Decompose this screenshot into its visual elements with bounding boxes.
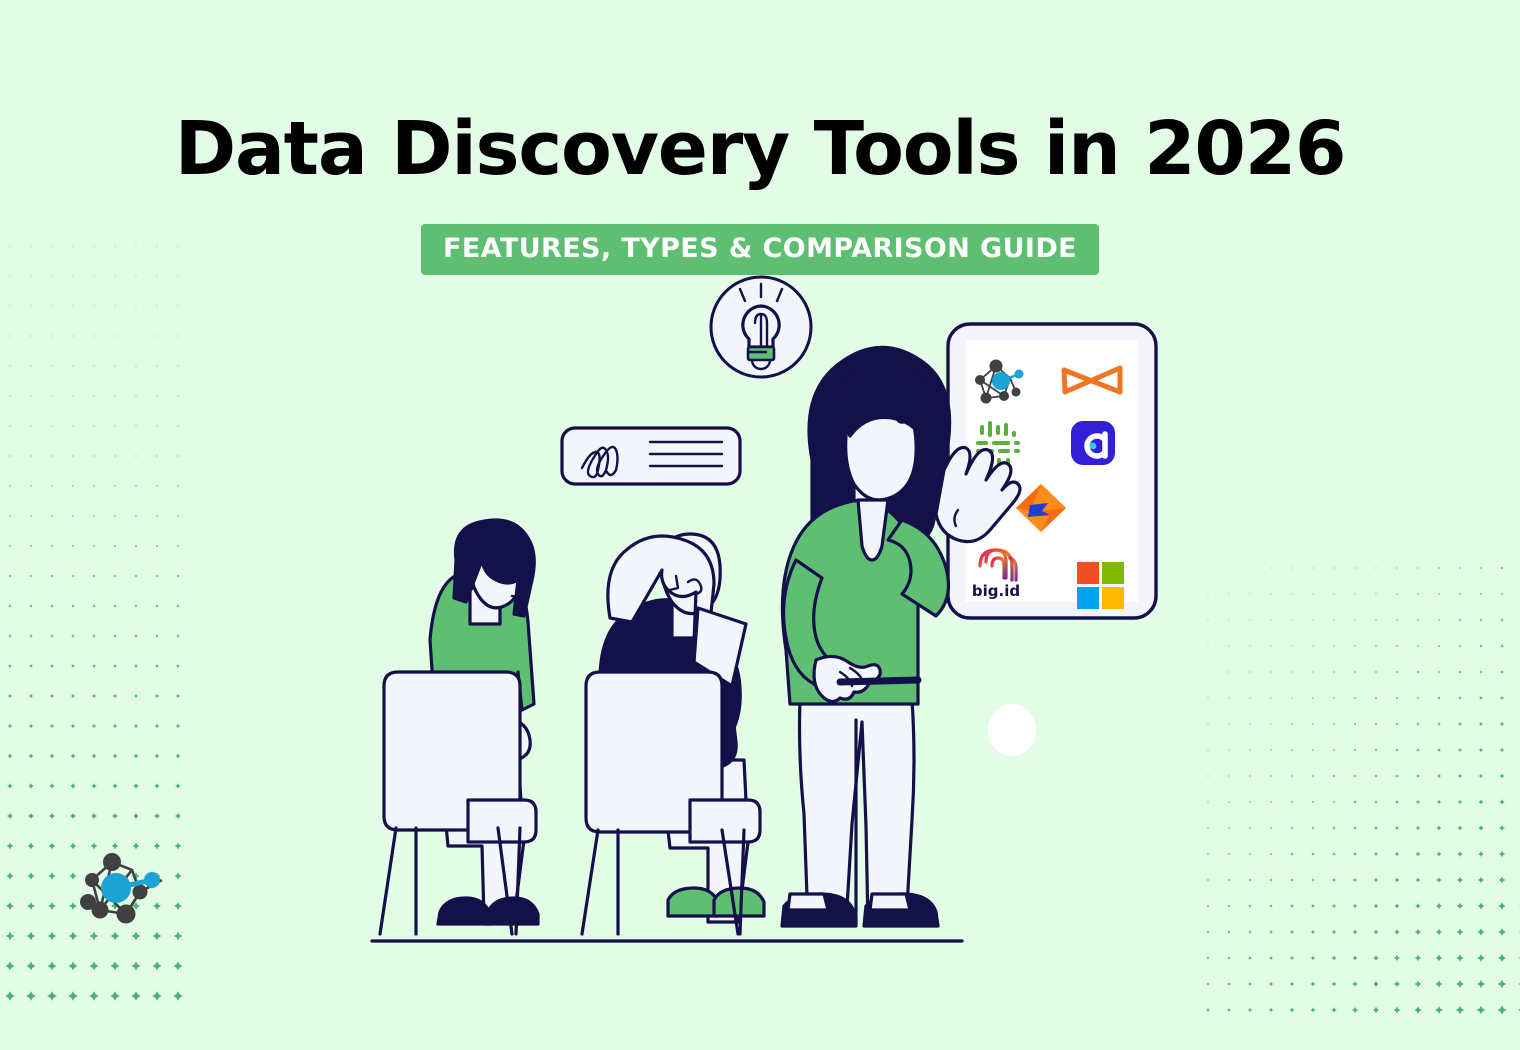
poster-canvas: Data Discovery Tools in 2026 FEATURES, T…: [0, 0, 1520, 1050]
lightbulb-badge: [711, 277, 811, 377]
logo-atlan-a[interactable]: [1071, 421, 1115, 465]
white-circle-decor: [988, 704, 1036, 756]
seated-person-green-shirt: [380, 520, 538, 934]
pointer-stick: [840, 680, 918, 682]
seated-person-dark-top: [582, 534, 764, 934]
logo-bigid-text: big.id: [972, 582, 1020, 600]
illustration: .ln { fill:none; stroke:#14104a; stroke-…: [0, 0, 1520, 1050]
network-graph-brandmark: [70, 840, 185, 950]
handwriting-note-card: [562, 428, 740, 484]
